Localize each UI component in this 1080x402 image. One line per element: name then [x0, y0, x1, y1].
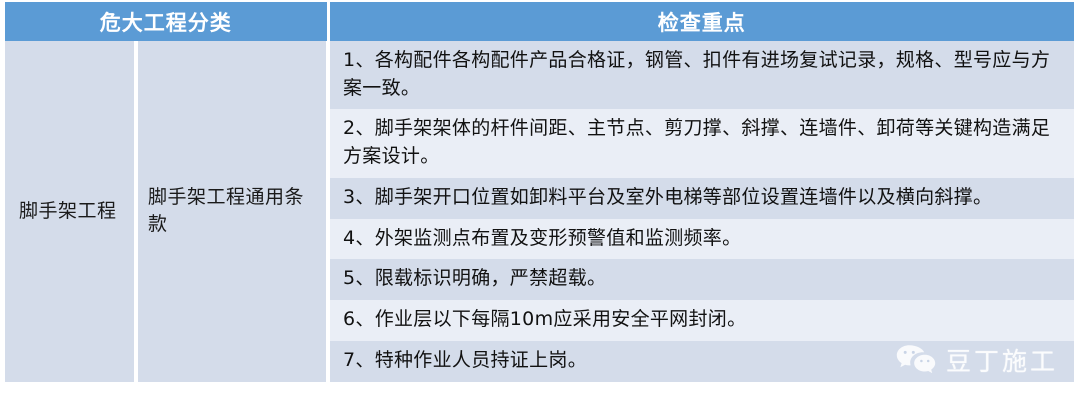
cell-subcategory-name: 脚手架工程通用条款 — [136, 41, 328, 382]
table-container: 危大工程分类 检查重点 脚手架工程 脚手架工程通用条款 1、各构配件各构配件产品… — [5, 2, 1074, 402]
cell-inspection-item: 5、限载标识明确，严禁超载。 — [328, 259, 1074, 300]
cell-inspection-item: 6、作业层以下每隔10m应采用安全平网封闭。 — [328, 300, 1074, 341]
inspection-item-text: 2、脚手架架体的杆件间距、主节点、剪刀撑、斜撑、连墙件、卸荷等关键构造满足方案设… — [343, 115, 1066, 170]
cell-inspection-item: 1、各构配件各构配件产品合格证，钢管、扣件有进场复试记录，规格、型号应与方案一致… — [328, 41, 1074, 109]
inspection-item-text: 7、特种作业人员持证上岗。 — [343, 347, 1066, 375]
cell-inspection-item: 7、特种作业人员持证上岗。 — [328, 341, 1074, 382]
cell-inspection-item: 2、脚手架架体的杆件间距、主节点、剪刀撑、斜撑、连墙件、卸荷等关键构造满足方案设… — [328, 109, 1074, 177]
inspection-item-text: 5、限载标识明确，严禁超载。 — [343, 265, 1066, 293]
header-cell-focus: 检查重点 — [328, 2, 1074, 41]
cell-inspection-item: 4、外架监测点布置及变形预警值和监测频率。 — [328, 219, 1074, 260]
header-cell-category: 危大工程分类 — [5, 2, 328, 41]
cell-inspection-item: 3、脚手架开口位置如卸料平台及室外电梯等部位设置连墙件以及横向斜撑。 — [328, 178, 1074, 219]
table-row: 脚手架工程 脚手架工程通用条款 1、各构配件各构配件产品合格证，钢管、扣件有进场… — [5, 41, 1074, 109]
inspection-focus-table: 危大工程分类 检查重点 脚手架工程 脚手架工程通用条款 1、各构配件各构配件产品… — [5, 2, 1074, 382]
table-body: 脚手架工程 脚手架工程通用条款 1、各构配件各构配件产品合格证，钢管、扣件有进场… — [5, 41, 1074, 382]
inspection-item-text: 1、各构配件各构配件产品合格证，钢管、扣件有进场复试记录，规格、型号应与方案一致… — [343, 47, 1066, 102]
header-row: 危大工程分类 检查重点 — [5, 2, 1074, 41]
screenshot-canvas: 危大工程分类 检查重点 脚手架工程 脚手架工程通用条款 1、各构配件各构配件产品… — [0, 0, 1080, 402]
inspection-item-text: 4、外架监测点布置及变形预警值和监测频率。 — [343, 225, 1066, 253]
inspection-item-text: 6、作业层以下每隔10m应采用安全平网封闭。 — [343, 306, 1066, 334]
cell-category-name: 脚手架工程 — [5, 41, 136, 382]
inspection-item-text: 3、脚手架开口位置如卸料平台及室外电梯等部位设置连墙件以及横向斜撑。 — [343, 184, 1066, 212]
table-header: 危大工程分类 检查重点 — [5, 2, 1074, 41]
